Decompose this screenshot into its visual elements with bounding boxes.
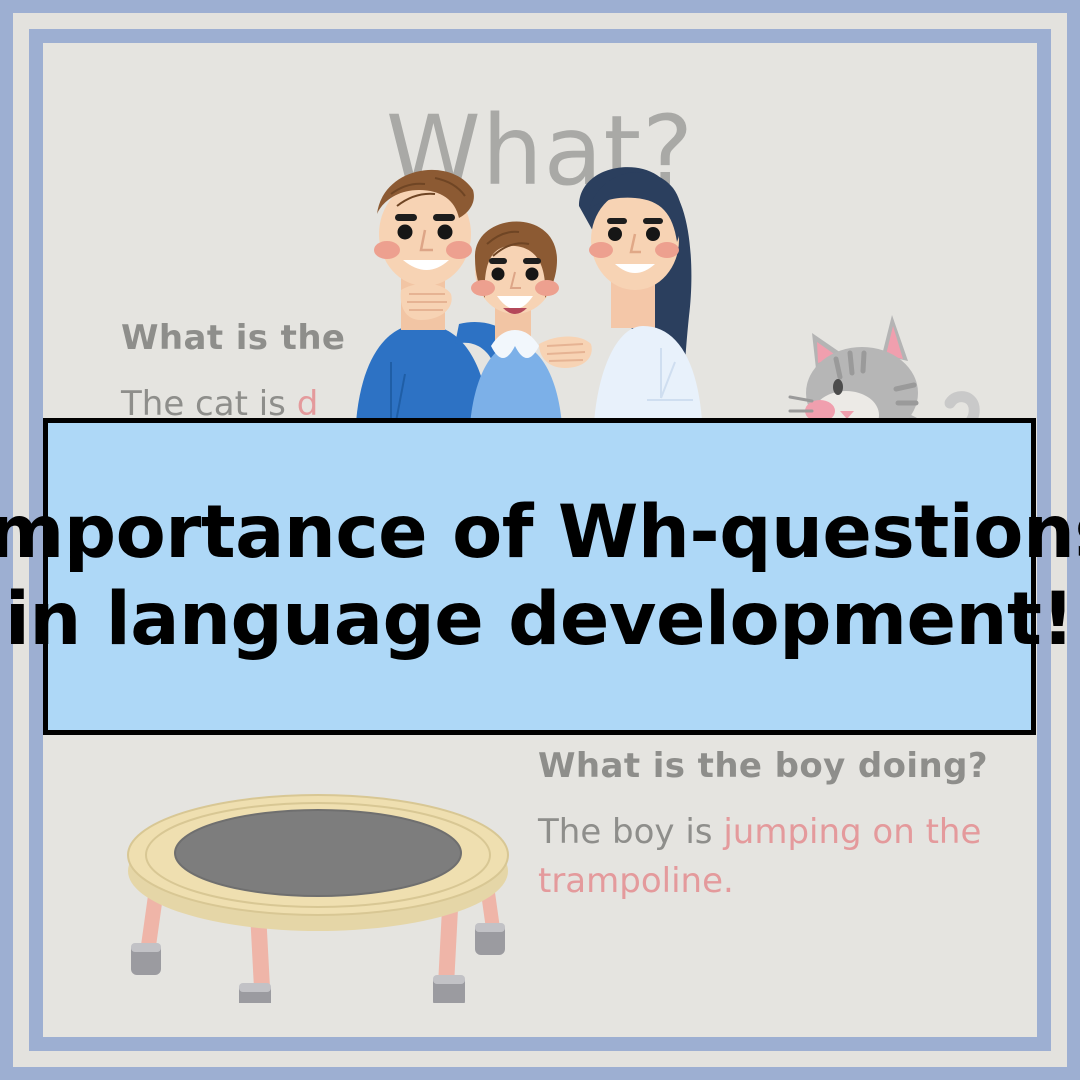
title-line-2: in language development!	[5, 577, 1074, 663]
title-line-1: Importance of Wh-questions	[0, 490, 1080, 576]
question-block-top: What is the The cat is d	[121, 318, 741, 429]
question-answer-bottom: The boy is jumping on the trampoline.	[538, 808, 1018, 907]
question-prompt-bottom: What is the boy doing?	[538, 746, 1018, 786]
poster-canvas: What?	[0, 0, 1080, 1080]
question-prompt-top: What is the	[121, 318, 741, 358]
answer-prefix-bottom: The boy is	[538, 812, 723, 852]
question-block-bottom: What is the boy doing? The boy is jumpin…	[538, 746, 1018, 907]
title-overlay-banner: Importance of Wh-questions in language d…	[43, 418, 1036, 735]
trampoline-illustration	[103, 743, 533, 1003]
